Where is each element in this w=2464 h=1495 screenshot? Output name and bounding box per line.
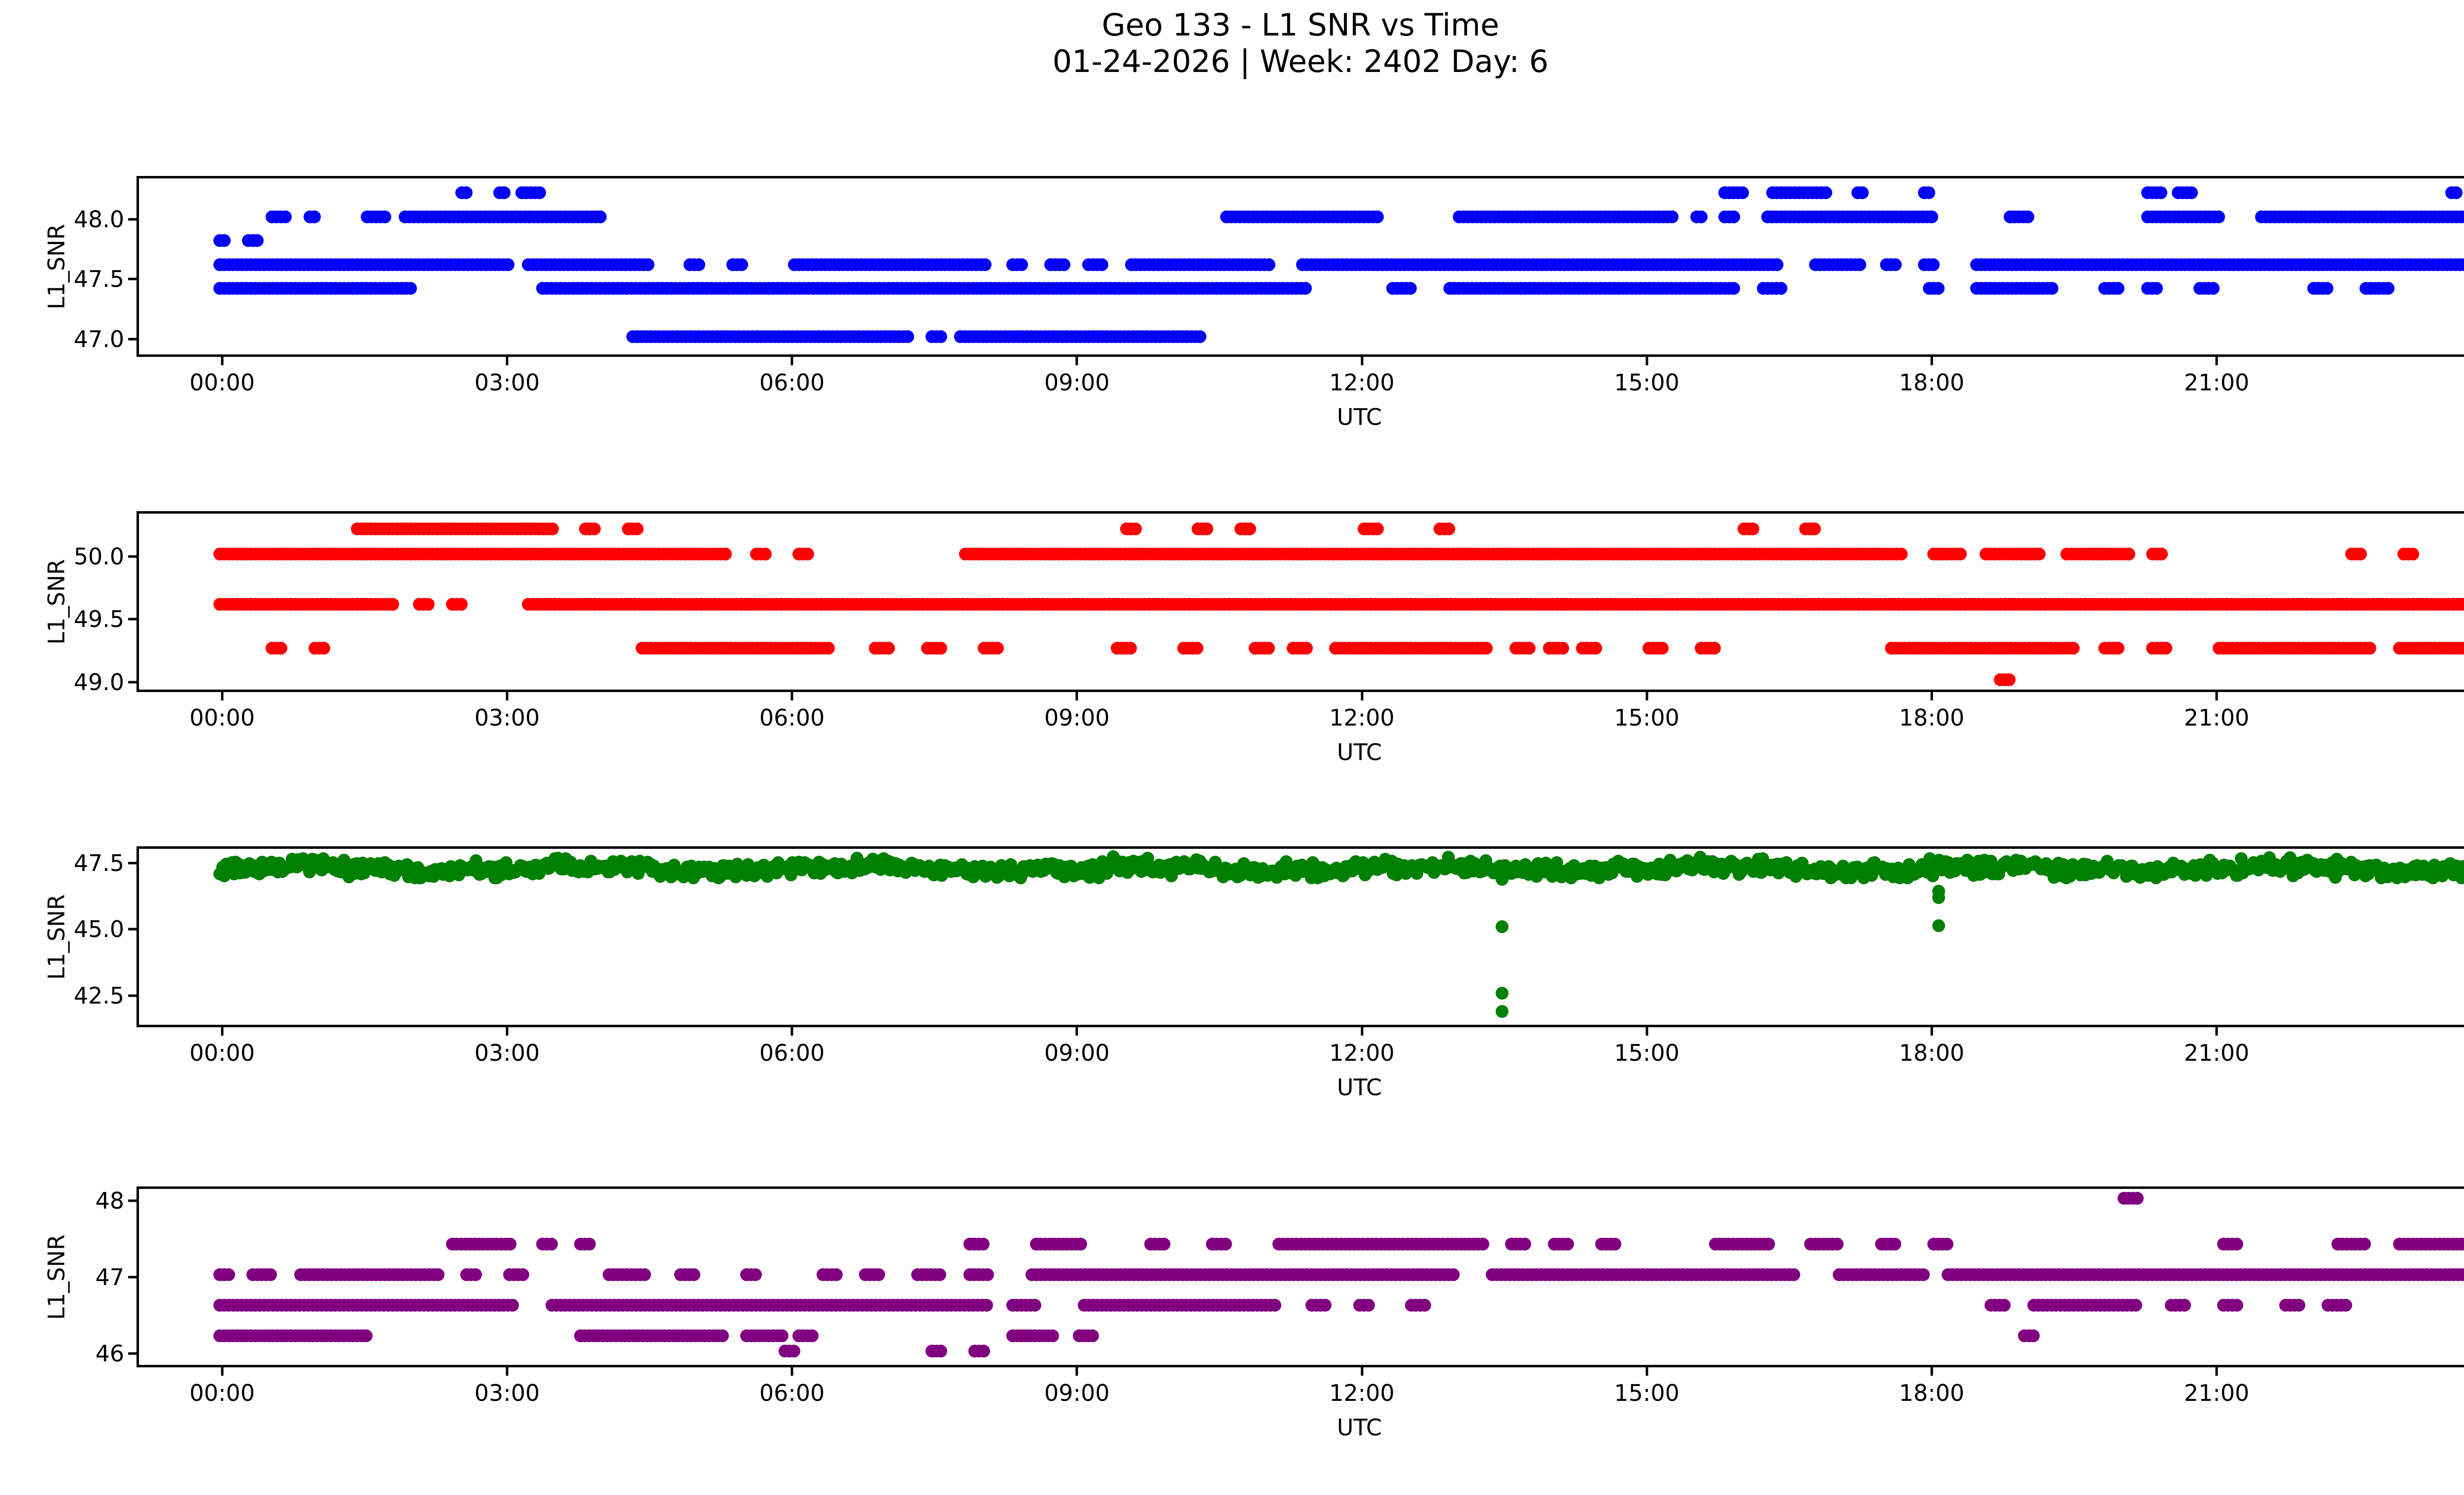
data-point [338,598,350,611]
data-point [2385,598,2397,611]
data-point [963,1268,976,1281]
data-point [584,598,597,611]
data-point [2332,642,2345,655]
data-point [1273,210,1286,223]
data-point [731,282,744,295]
data-point [1134,598,1147,611]
data-point [1532,857,1544,870]
data-point [2393,642,2406,655]
data-point [887,857,899,870]
data-point [1203,548,1216,560]
data-point [1779,210,1792,223]
data-point [1395,282,1408,295]
data-point [422,598,435,611]
data-point [806,258,819,271]
data-point [2326,856,2339,869]
data-point [545,282,558,295]
data-point [2213,866,2225,878]
data-point [1438,258,1451,271]
data-point [1158,1299,1170,1312]
data-point [1225,867,1237,879]
data-point [2405,258,2418,271]
data-point [1353,1299,1366,1312]
x-axis-tick-label: 00:00 [190,1382,255,1404]
data-point [1846,1268,1859,1281]
data-point [253,598,266,611]
data-point [2110,598,2122,611]
data-point [1371,258,1384,271]
data-point [785,869,797,881]
data-point [1555,870,1568,883]
data-point [2198,867,2211,879]
data-point [511,522,523,535]
data-point [1349,210,1362,223]
data-point [413,1299,426,1312]
data-point [1497,282,1509,295]
data-point [411,861,424,874]
data-point [681,1329,693,1342]
data-point [2036,1299,2049,1312]
data-point [1709,258,1721,271]
data-point [1130,856,1143,869]
data-point [369,522,381,535]
data-point [372,857,385,870]
data-point [649,862,662,875]
data-point [1575,548,1588,560]
data-point [2408,860,2421,873]
data-point [939,258,952,271]
data-point [667,1329,680,1342]
data-point [360,1299,373,1312]
data-point [515,186,528,199]
data-point [526,868,539,880]
data-point [365,210,378,223]
data-point [1756,852,1769,865]
data-point [1531,548,1544,560]
data-point [1316,598,1329,611]
data-point [776,1299,789,1312]
data-point [978,864,991,876]
data-point [2290,863,2302,876]
data-point [2129,1299,2142,1312]
data-point [443,869,456,882]
data-point [1544,258,1557,271]
data-point [1750,861,1763,874]
data-point [1508,863,1521,875]
data-point [2266,642,2279,655]
data-point [1077,867,1090,879]
data-point [1386,282,1399,295]
data-point [371,859,383,872]
data-point [2159,1268,2172,1281]
data-point [523,861,536,873]
data-point [773,642,786,655]
data-point [2391,871,2403,884]
data-point [2188,258,2200,271]
data-point [1210,282,1223,295]
data-point [1403,861,1415,873]
data-point [2310,865,2323,878]
data-point [273,857,286,869]
data-point [723,1299,736,1312]
data-point [2369,258,2382,271]
data-point [400,258,412,271]
data-point [2085,867,2098,880]
data-point [2061,1268,2074,1281]
data-point [722,282,735,295]
data-point [1250,282,1263,295]
data-point [1818,258,1831,271]
data-point [253,1299,266,1312]
data-point [1643,864,1656,877]
data-point [1383,1238,1396,1251]
data-point [2434,1268,2447,1281]
data-point [1984,258,1996,271]
data-point [634,282,647,295]
data-point [2021,860,2034,872]
data-point [610,1329,622,1342]
data-point [1232,869,1245,881]
data-point [533,867,546,880]
data-point [811,862,824,874]
data-point [1543,1268,1556,1281]
data-point [830,1268,843,1281]
data-point [1833,548,1846,560]
x-axis-tick [506,690,508,700]
data-point [1797,186,1810,199]
data-point [1144,282,1157,295]
data-point [1136,1268,1149,1281]
data-point [1903,210,1916,223]
data-point [479,1299,492,1312]
data-point [1644,598,1657,611]
data-point [421,210,434,223]
data-point [1041,860,1054,872]
data-point [1300,1268,1313,1281]
data-point [1085,598,1098,611]
data-point [1875,862,1887,874]
data-point [2269,598,2282,611]
data-point [2288,642,2301,655]
data-point [1459,864,1472,876]
data-point [1372,860,1385,873]
data-point [1899,1268,1912,1281]
data-point [1642,258,1655,271]
data-point [2132,598,2145,611]
data-point [2019,548,2032,560]
data-point [1345,1268,1358,1281]
data-point [1998,673,2011,686]
data-point [471,1299,483,1312]
data-point [1332,1268,1344,1281]
data-point [1050,598,1062,611]
data-point [1756,1268,1769,1281]
data-point [2255,855,2268,868]
data-point [2213,642,2225,655]
data-point [1700,548,1712,560]
data-point [2455,210,2464,223]
data-point [884,864,896,876]
x-axis-tick [2216,690,2218,700]
data-point [659,598,672,611]
data-point [240,258,253,271]
data-point [661,1299,674,1312]
data-point [1300,548,1313,560]
data-point [1821,865,1834,878]
data-point [1459,1238,1472,1251]
data-point [1324,868,1336,880]
data-point [697,548,710,560]
data-point [2062,642,2075,655]
data-point [1814,258,1826,271]
data-point [1389,1268,1402,1281]
data-point [2325,866,2337,878]
data-point [579,522,592,535]
data-point [757,598,770,611]
data-point [1479,854,1492,867]
data-point [853,330,865,343]
data-point [642,598,654,611]
data-point [1779,862,1791,874]
data-point [1358,548,1371,560]
data-point [1051,282,1063,295]
data-point [1056,330,1069,343]
data-point [302,598,315,611]
data-point [2259,258,2271,271]
data-point [444,548,457,560]
data-point [1329,598,1342,611]
data-point [1480,642,1493,655]
data-point [1811,548,1823,560]
data-point [1598,863,1610,875]
data-point [975,863,988,876]
data-point [1254,598,1266,611]
data-point [1849,865,1862,878]
data-point [1766,282,1779,295]
data-point [1104,862,1117,875]
data-point [1527,548,1540,560]
data-point [2321,258,2333,271]
data-point [1319,1299,1332,1312]
data-point [2428,859,2441,871]
data-point [2239,642,2252,655]
data-point [1656,642,1669,655]
data-point [1553,866,1566,878]
data-point [2334,856,2347,869]
data-point [448,258,461,271]
data-point [2305,859,2318,872]
data-point [2186,210,2198,223]
data-point [564,548,577,560]
data-point [1536,865,1549,877]
data-point [1776,858,1788,871]
data-point [1593,548,1606,560]
data-point [434,210,447,223]
data-point [797,548,810,560]
data-point [1793,548,1806,560]
data-point [1391,642,1404,655]
data-point [1921,866,1934,879]
data-point [2031,642,2044,655]
data-point [1118,860,1130,873]
data-point [1025,863,1038,875]
data-point [553,258,566,271]
data-point [1021,548,1034,560]
data-point [2233,864,2246,877]
data-point [351,282,364,295]
data-point [1389,258,1402,271]
data-point [1423,1238,1436,1251]
data-point [1489,598,1502,611]
data-point [1970,282,1983,295]
data-point [2169,859,2182,872]
data-point [515,548,528,560]
data-point [792,856,805,869]
data-point [776,1329,788,1342]
data-point [1772,867,1785,879]
data-point [1017,860,1030,873]
data-point [2219,258,2231,271]
data-point [2003,860,2016,872]
data-point [271,548,284,560]
data-point [646,598,659,611]
data-point [1620,258,1633,271]
data-point [267,598,279,611]
data-point [683,1299,696,1312]
data-point [1697,863,1710,875]
x-axis-label-oakland: UTC [1337,741,1382,764]
data-point [1859,548,1872,560]
data-point [1535,1268,1547,1281]
data-point [2238,862,2251,875]
data-point [258,548,271,560]
data-point [1409,863,1422,876]
data-point [753,1329,766,1342]
data-point [558,863,571,875]
data-point [1537,210,1550,223]
data-point [1788,186,1801,199]
data-point [2284,851,2296,864]
data-point [1391,282,1403,295]
data-point [2076,865,2088,878]
data-point [481,1238,494,1251]
data-point [894,258,907,271]
data-point [2222,862,2235,875]
data-point [1581,282,1594,295]
data-point [284,1299,297,1312]
data-point [666,330,679,343]
data-point [525,864,538,877]
data-point [1445,1238,1458,1251]
data-point [1975,862,1988,875]
data-point [213,258,226,271]
data-point [2002,856,2015,869]
data-point [1768,598,1781,611]
data-point [838,865,851,878]
data-point [1585,282,1598,295]
data-point [1539,1268,1552,1281]
data-point [695,864,708,877]
data-point [1592,1268,1605,1281]
data-point [1950,598,1963,611]
data-point [444,258,457,271]
data-point [1773,598,1785,611]
data-point [2238,598,2251,611]
data-point [2070,1268,2083,1281]
data-point [1175,1299,1188,1312]
data-point [1678,858,1691,870]
data-point [2068,258,2081,271]
data-point [1147,258,1160,271]
data-point [497,548,510,560]
data-point [1882,548,1894,560]
data-point [2450,186,2463,199]
data-point [2217,1299,2230,1312]
data-point [910,862,923,875]
data-point [2155,186,2167,199]
data-point [479,522,492,535]
data-point [2125,1299,2138,1312]
data-point [1318,548,1331,560]
data-point [1722,861,1735,873]
data-point [861,861,874,874]
data-point [648,860,660,872]
data-point [1173,862,1186,875]
data-point [1141,1268,1154,1281]
data-point [1066,864,1079,877]
data-point [347,858,360,871]
data-point [1722,258,1735,271]
data-point [1932,548,1945,560]
data-point [1868,210,1881,223]
data-point [1443,282,1456,295]
data-point [272,866,284,878]
data-point [2207,282,2220,295]
data-point [455,1238,468,1251]
data-point [2001,282,2014,295]
data-point [333,598,346,611]
data-point [1846,548,1859,560]
data-point [1292,548,1304,560]
data-point [416,210,429,223]
data-point [2323,1268,2336,1281]
data-point [1579,867,1592,880]
data-point [2400,864,2413,876]
data-point [360,598,373,611]
data-point [275,282,288,295]
data-point [382,282,395,295]
data-point [1409,598,1422,611]
data-point [1723,186,1736,199]
data-point [1179,857,1192,869]
data-point [2253,642,2265,655]
data-point [654,870,667,883]
data-point [1544,548,1557,560]
data-point [2148,258,2160,271]
data-point [1219,1238,1232,1251]
data-point [1127,1299,1139,1312]
data-point [758,1299,771,1312]
data-point [1094,862,1107,874]
data-point [1799,522,1812,535]
data-point [685,1329,698,1342]
data-point [925,1345,938,1357]
data-point [309,854,322,867]
data-point [703,861,716,873]
data-point [356,857,369,869]
data-point [1602,258,1615,271]
axes-dallas: L1_SNR UTC 47.047.548.000:0003:0006:0009… [137,176,2464,357]
